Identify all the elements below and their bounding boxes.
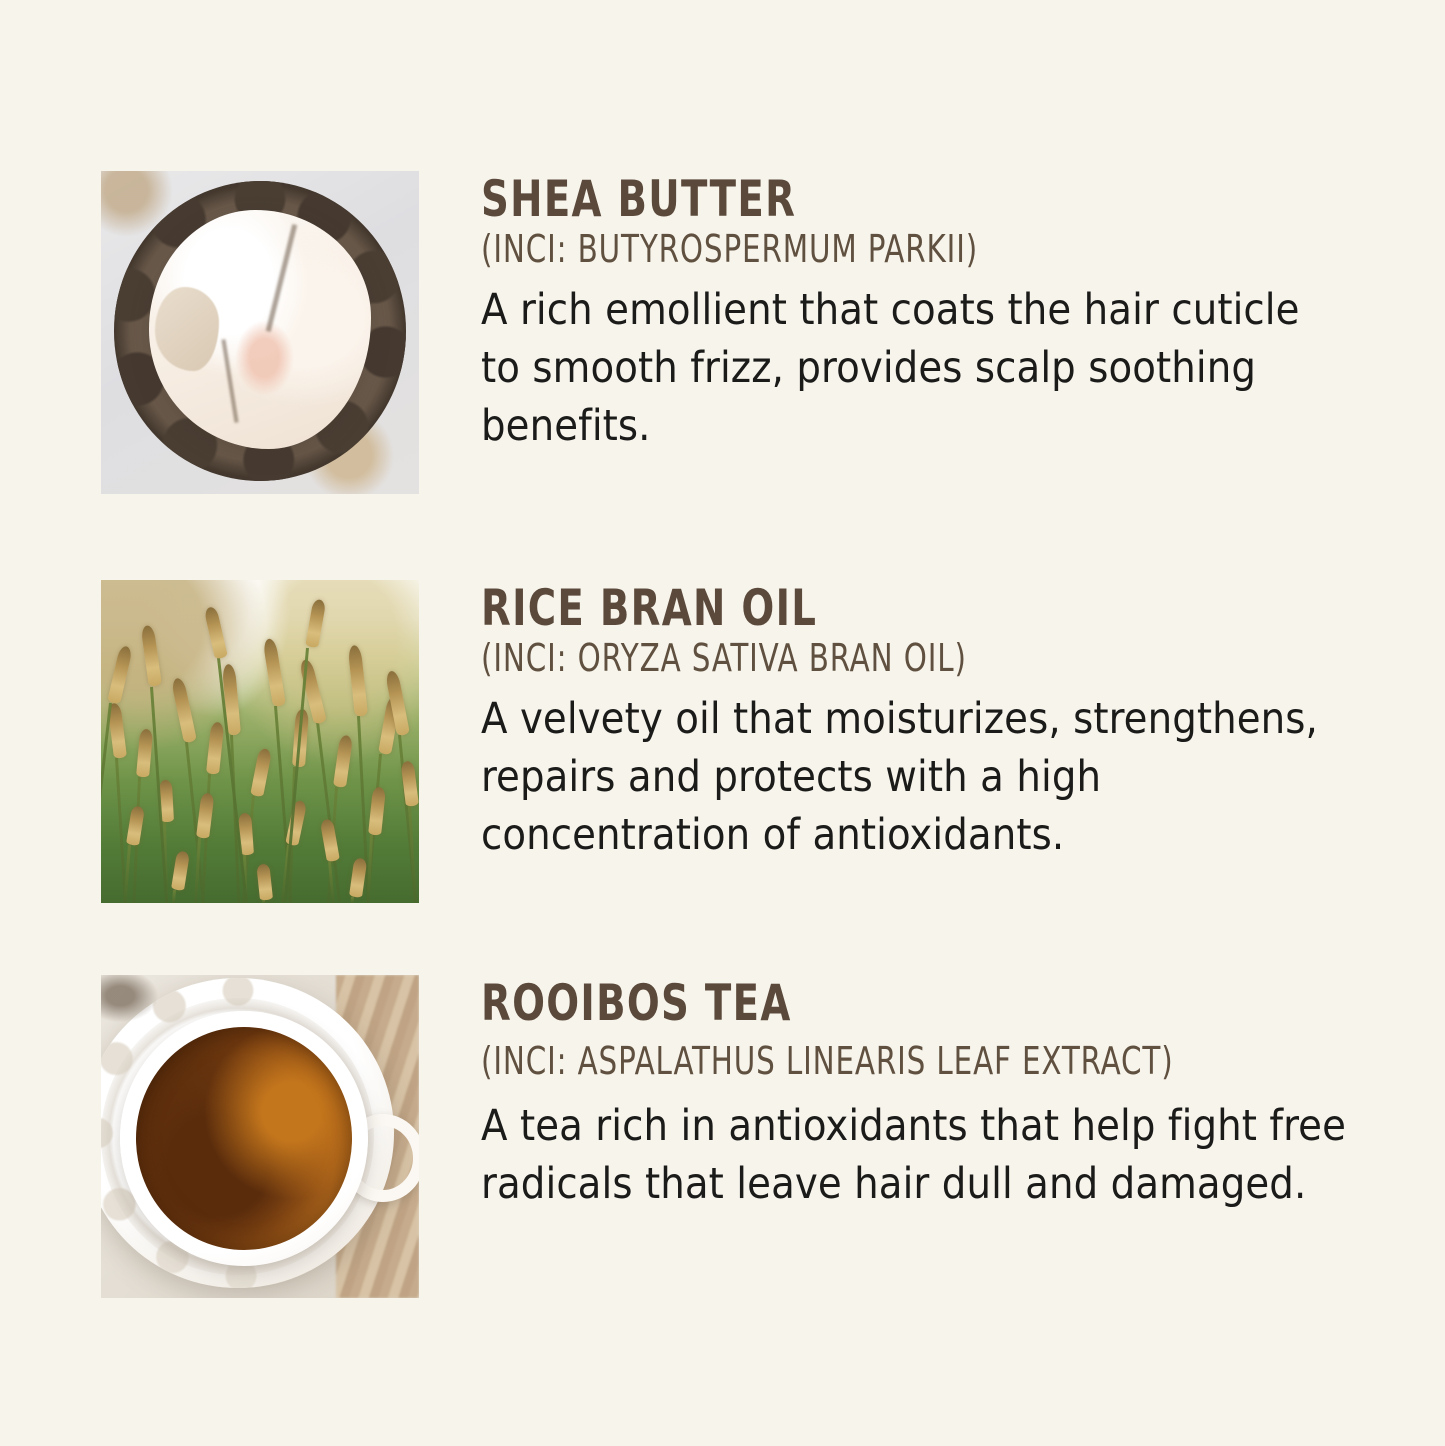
tea-corner-shadow (101, 975, 165, 1027)
ingredient-image-wrap (101, 975, 419, 1298)
rice-seed-head (333, 735, 353, 788)
ingredient-name: RICE BRAN OIL (481, 580, 817, 637)
rooibos-tea-image (101, 975, 419, 1298)
rice-stem (350, 896, 353, 903)
rooibos-tea-photo-art (101, 975, 419, 1298)
ingredient-name: ROOIBOS TEA (481, 975, 1276, 1032)
ingredient-name: SHEA BUTTER (481, 171, 796, 228)
rice-seed-head (204, 606, 228, 659)
ingredient-description: A tea rich in antioxidants that help fig… (481, 1097, 1381, 1213)
rice-seed-head (320, 819, 340, 863)
ingredient-text-column: RICE BRAN OIL(INCI: ORYZA SATIVA BRAN OI… (481, 580, 1445, 864)
rice-stem (284, 648, 309, 902)
ingredient-heading: ROOIBOS TEA (INCI: ASPALATHUS LINEARIS L… (481, 975, 1405, 1083)
ingredient-image-wrap (101, 580, 419, 903)
ingredient-inci: (INCI: BUTYROSPERMUM PARKII) (481, 228, 978, 271)
ingredient-description: A rich emollient that coats the hair cut… (481, 281, 1341, 455)
ingredient-text-column: SHEA BUTTER(INCI: BUTYROSPERMUM PARKII) … (481, 171, 1445, 455)
ingredient-description: A velvety oil that moisturizes, strength… (481, 690, 1341, 864)
rice-stem (262, 900, 265, 903)
rice-seed-head (305, 599, 326, 649)
ingredient-text-column: ROOIBOS TEA (INCI: ASPALATHUS LINEARIS L… (481, 975, 1445, 1213)
rice-field-photo-art (101, 580, 419, 903)
rice-seed-head (136, 728, 153, 777)
ingredient-heading: RICE BRAN OIL(INCI: ORYZA SATIVA BRAN OI… (481, 580, 1405, 680)
ingredient-infographic: SHEA BUTTER(INCI: BUTYROSPERMUM PARKII) … (0, 0, 1445, 1446)
rice-seed-head (170, 677, 196, 743)
rice-seed-head (348, 644, 368, 716)
rice-seed-head (196, 793, 214, 839)
ingredient-image-wrap (101, 171, 419, 494)
rice-seed-head (349, 857, 367, 897)
rice-seed-head (251, 748, 273, 798)
ingredient-heading: SHEA BUTTER(INCI: BUTYROSPERMUM PARKII) (481, 171, 1405, 271)
rice-seed-head (368, 786, 386, 836)
rice-seed-head (256, 864, 273, 901)
shea-butter-image (101, 171, 419, 494)
ingredient-block-rice-bran-oil: RICE BRAN OIL(INCI: ORYZA SATIVA BRAN OI… (0, 580, 1445, 903)
shea-butter-photo-art (101, 171, 419, 494)
rice-seed-head (140, 625, 161, 688)
ingredient-block-rooibos-tea: ROOIBOS TEA (INCI: ASPALATHUS LINEARIS L… (0, 975, 1445, 1298)
rice-seed-head (127, 806, 146, 846)
rice-seed-head (171, 851, 190, 891)
rice-seed-head (262, 638, 285, 707)
ingredient-inci: (INCI: ORYZA SATIVA BRAN OIL) (481, 637, 967, 680)
ingredient-block-shea-butter: SHEA BUTTER(INCI: BUTYROSPERMUM PARKII) … (0, 171, 1445, 494)
rice-bran-oil-image (101, 580, 419, 903)
rice-seed-head (206, 722, 224, 775)
rice-seed-head (108, 645, 134, 705)
tea-liquid (136, 1027, 352, 1250)
rice-seed-heads (101, 580, 419, 903)
ingredient-inci: (INCI: ASPALATHUS LINEARIS LEAF EXTRACT) (481, 1040, 1276, 1083)
rice-stem (172, 890, 176, 903)
